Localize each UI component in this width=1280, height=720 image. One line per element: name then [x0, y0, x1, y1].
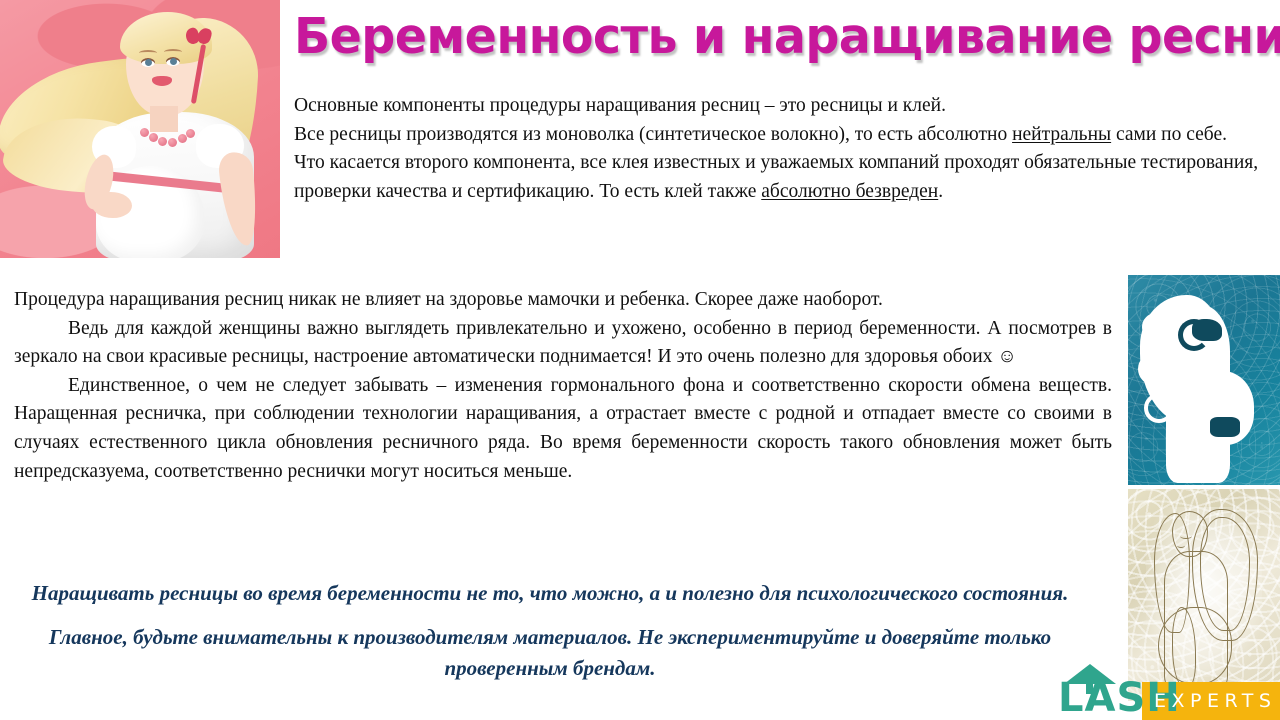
- intro-line-2-part-a: Все ресницы производятся из моноволка (с…: [294, 124, 1012, 145]
- illustration-pregnant-woman-teal: [1128, 275, 1280, 485]
- intro-underlined-neutral: нейтральны: [1012, 124, 1111, 145]
- hero-hair-bow: [186, 28, 212, 46]
- necklace-bead: [140, 128, 149, 137]
- hero-illustration-pregnant-woman-pink: [0, 0, 280, 258]
- intro-paragraph-3: Что касается второго компонента, все кле…: [294, 149, 1266, 206]
- hero-hand: [92, 192, 132, 218]
- intro-paragraph-2: Все ресницы производятся из моноволка (с…: [294, 121, 1266, 150]
- teal-hair-curl: [1138, 353, 1170, 385]
- body-paragraph-3: Единственное, о чем не следует забывать …: [14, 372, 1112, 486]
- intro-underlined-harmless: абсолютно безвреден: [761, 181, 938, 202]
- body-paragraph-2-text: Ведь для каждой женщины важно выглядеть …: [14, 318, 1112, 368]
- hero-necklace: [140, 126, 196, 152]
- slide-canvas: Беременность и наращивание ресниц Основн…: [0, 0, 1280, 720]
- intro-paragraph-1: Основные компоненты процедуры наращивани…: [294, 92, 1266, 121]
- teal-shadow-hand: [1210, 417, 1240, 437]
- conclusion-line-2: Главное, будьте внимательны к производит…: [20, 622, 1080, 684]
- intro-line-1: Основные компоненты процедуры наращивани…: [294, 95, 946, 116]
- logo-secondary-text: EXPERTS: [1154, 690, 1276, 712]
- necklace-bead: [186, 129, 195, 138]
- body-paragraph-2: Ведь для каждой женщины важно выглядеть …: [14, 315, 1112, 372]
- body-text-block: Процедура наращивания ресниц никак не вл…: [14, 286, 1112, 486]
- conclusion-line-1: Наращивать ресницы во время беременности…: [20, 578, 1080, 609]
- smiley-face-icon: ☺: [997, 346, 1016, 367]
- hero-eyebrow-left: [139, 50, 157, 56]
- intro-line-3-part-b: .: [938, 181, 943, 202]
- beige-lips: [1177, 543, 1185, 548]
- hero-pupil-right: [170, 58, 177, 65]
- hero-pupil-left: [145, 59, 152, 66]
- beige-eye: [1180, 533, 1192, 539]
- body-paragraph-1: Процедура наращивания ресниц никак не вл…: [14, 286, 1112, 315]
- page-title: Беременность и наращивание ресниц: [294, 8, 1245, 66]
- lash-experts-logo[interactable]: LASH EXPERTS: [1058, 664, 1280, 720]
- necklace-bead: [158, 137, 167, 146]
- necklace-bead: [168, 138, 177, 147]
- conclusion-block: Наращивать ресницы во время беременности…: [20, 578, 1080, 684]
- teal-hair-curl: [1142, 313, 1170, 341]
- teal-shadow-head: [1192, 319, 1222, 341]
- intro-line-2-part-b: сами по себе.: [1111, 124, 1227, 145]
- intro-text-block: Основные компоненты процедуры наращивани…: [294, 92, 1266, 206]
- teal-hair-curl: [1144, 393, 1174, 423]
- necklace-bead: [149, 133, 158, 142]
- hero-eyebrow-right: [164, 49, 182, 55]
